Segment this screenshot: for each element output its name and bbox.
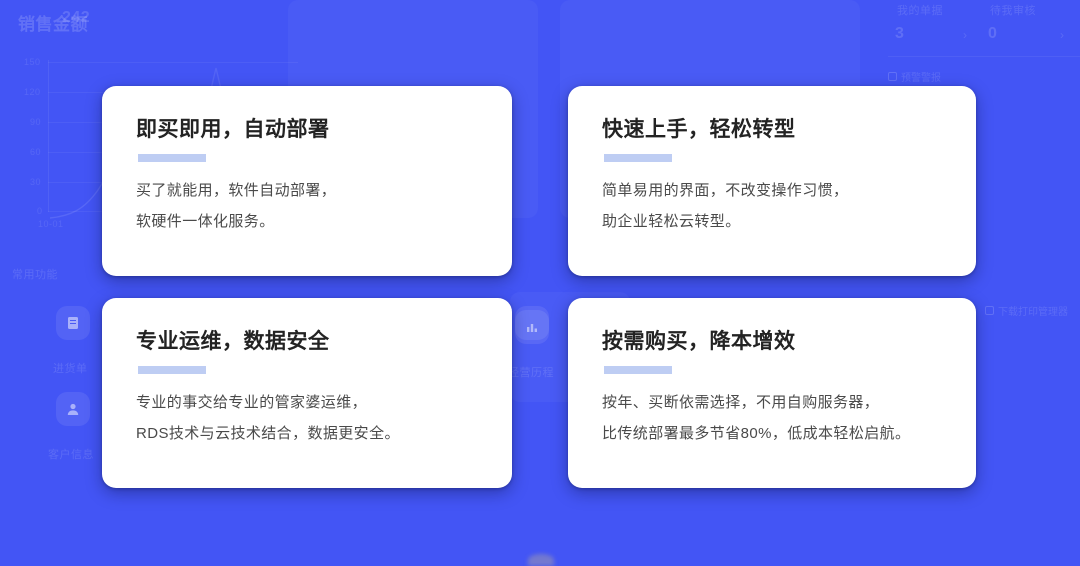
feature-card-3-desc-line-2: RDS技术与云技术结合，数据更安全。 bbox=[136, 418, 512, 449]
background-icon-book bbox=[515, 306, 549, 340]
feature-card-4-desc-line-1: 按年、买断依需选择，不用自购服务器， bbox=[602, 387, 976, 418]
chart-ytick-0: 150 bbox=[24, 57, 41, 67]
feature-card-3-title: 专业运维，数据安全 bbox=[136, 330, 512, 354]
feature-card-4[interactable]: 按需购买，降本增效 按年、买断依需选择，不用自购服务器， 比传统部署最多节省80… bbox=[568, 298, 976, 488]
download-print-manager-label: 下载打印管理器 bbox=[998, 303, 1068, 318]
chart-ytick-4: 30 bbox=[30, 177, 41, 187]
stat-label-1: 待我审核 bbox=[990, 2, 1036, 18]
feature-card-4-accent-rule bbox=[604, 366, 672, 374]
download-print-manager-link: 下载打印管理器 bbox=[985, 303, 1068, 318]
feature-card-2-title: 快速上手，轻松转型 bbox=[602, 118, 976, 142]
stat-value-0: 3 bbox=[895, 25, 904, 43]
feature-card-1-desc-line-2: 软硬件一体化服务。 bbox=[136, 206, 512, 237]
background-icon-person bbox=[56, 392, 90, 426]
feature-card-2-accent-rule bbox=[604, 154, 672, 162]
chart-ytick-2: 90 bbox=[30, 117, 41, 127]
alert-icon bbox=[888, 72, 897, 81]
feature-card-3-desc-line-1: 专业的事交给专业的管家婆运维， bbox=[136, 387, 512, 418]
chevron-right-icon-1: › bbox=[1060, 28, 1064, 42]
alert-entry-label: 预警警报 bbox=[901, 69, 941, 84]
chart-title: 销售金额 bbox=[18, 10, 88, 35]
background-blob bbox=[528, 554, 554, 566]
feature-card-1[interactable]: 即买即用，自动部署 买了就能用，软件自动部署， 软硬件一体化服务。 bbox=[102, 86, 512, 276]
chart-value: 242 bbox=[62, 9, 90, 27]
feature-card-4-desc-line-2: 比传统部署最多节省80%，低成本轻松启航。 bbox=[602, 418, 976, 449]
chart-ytick-5: 0 bbox=[37, 206, 43, 216]
feature-card-1-title: 即买即用，自动部署 bbox=[136, 118, 512, 142]
screen-root: 销售金额 242 150 120 90 60 30 0 10-01 我的单据 3… bbox=[0, 0, 1080, 566]
feature-card-4-title: 按需购买，降本增效 bbox=[602, 330, 976, 354]
background-icon-chart bbox=[515, 310, 549, 344]
alert-entry: 预警警报 bbox=[888, 69, 941, 84]
stat-label-0: 我的单据 bbox=[897, 2, 943, 18]
chevron-right-icon-0: › bbox=[963, 28, 967, 42]
chart-xtick-0: 10-01 bbox=[38, 219, 64, 229]
background-icon-label-0: 进货单 bbox=[53, 360, 88, 376]
feature-card-3-accent-rule bbox=[138, 366, 206, 374]
chart-ytick-1: 120 bbox=[24, 87, 41, 97]
feature-card-2[interactable]: 快速上手，轻松转型 简单易用的界面，不改变操作习惯， 助企业轻松云转型。 bbox=[568, 86, 976, 276]
feature-card-2-desc-line-1: 简单易用的界面，不改变操作习惯， bbox=[602, 175, 976, 206]
chart-ytick-3: 60 bbox=[30, 147, 41, 157]
feature-card-2-desc-line-2: 助企业轻松云转型。 bbox=[602, 206, 976, 237]
background-icon-document bbox=[56, 306, 90, 340]
feature-card-1-desc-line-1: 买了就能用，软件自动部署， bbox=[136, 175, 512, 206]
background-icon-label-1: 客户信息 bbox=[48, 446, 94, 462]
background-icon-label-2: 经营历程 bbox=[508, 364, 554, 380]
feature-card-3[interactable]: 专业运维，数据安全 专业的事交给专业的管家婆运维， RDS技术与云技术结合，数据… bbox=[102, 298, 512, 488]
stat-value-1: 0 bbox=[988, 25, 997, 43]
section-label-common-functions: 常用功能 bbox=[12, 266, 58, 282]
download-icon bbox=[985, 306, 994, 315]
feature-card-1-accent-rule bbox=[138, 154, 206, 162]
